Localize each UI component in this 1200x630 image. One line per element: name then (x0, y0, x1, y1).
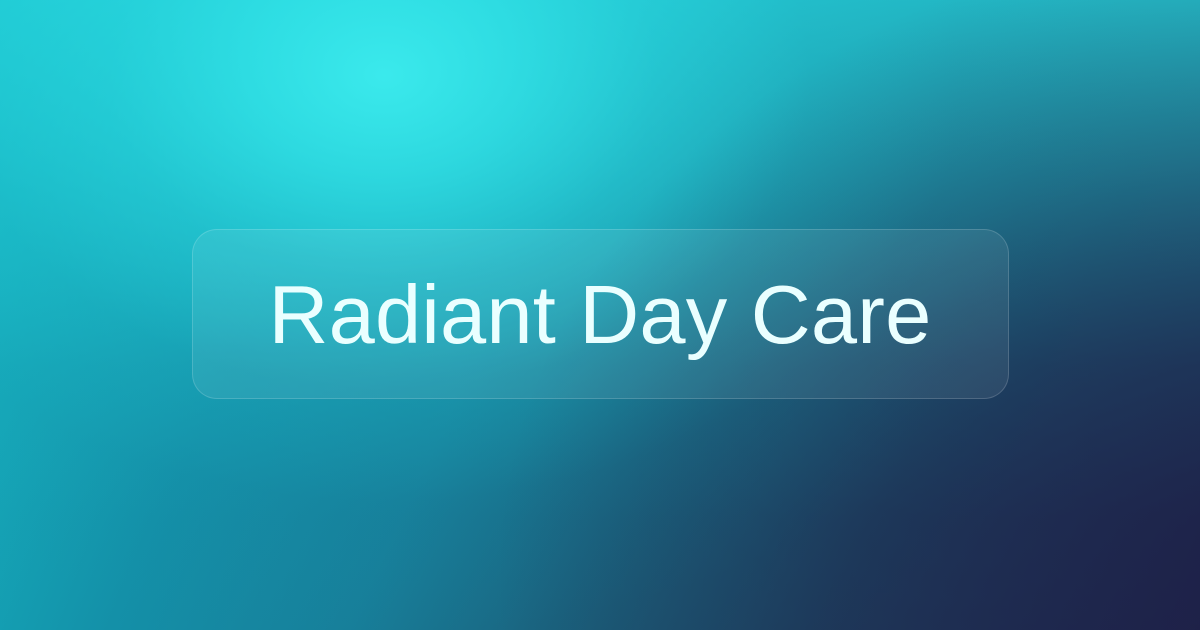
og-image-canvas: Radiant Day Care (0, 0, 1200, 630)
page-title: Radiant Day Care (269, 273, 932, 356)
title-card: Radiant Day Care (192, 229, 1009, 399)
